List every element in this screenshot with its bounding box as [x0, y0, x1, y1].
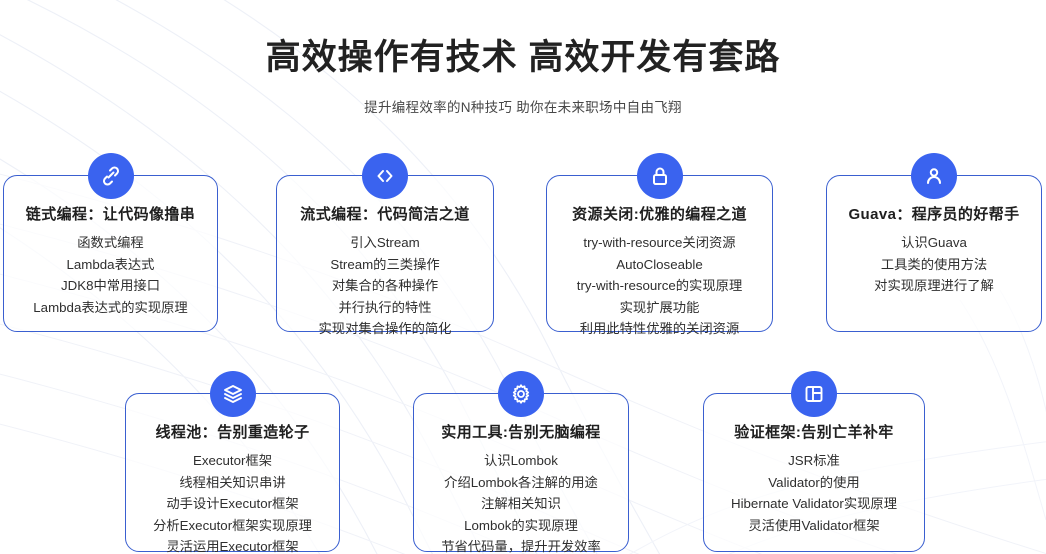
feature-card-stream-programming[interactable]: 流式编程：代码简洁之道 引入Stream Stream的三类操作 对集合的各种操… — [276, 175, 494, 332]
card-title: 资源关闭:优雅的编程之道 — [553, 203, 766, 224]
link-chain-icon — [88, 153, 134, 199]
list-item: Validator的使用 — [710, 472, 918, 494]
card-title: 流式编程：代码简洁之道 — [283, 203, 487, 224]
list-item: 灵活运用Executor框架 — [132, 536, 333, 554]
list-item: 对实现原理进行了解 — [833, 275, 1035, 297]
code-brackets-icon — [362, 153, 408, 199]
list-item: Executor框架 — [132, 450, 333, 472]
page-header: 高效操作有技术 高效开发有套路 提升编程效率的N种技巧 助你在未来职场中自由飞翔 — [0, 0, 1046, 116]
list-item: 函数式编程 — [10, 232, 211, 254]
list-item: Lambda表达式 — [10, 254, 211, 276]
card-title: 验证框架:告别亡羊补牢 — [710, 421, 918, 442]
list-item: 线程相关知识串讲 — [132, 472, 333, 494]
list-item: Lambda表达式的实现原理 — [10, 297, 211, 319]
list-item: Lombok的实现原理 — [420, 515, 622, 537]
card-title: 线程池：告别重造轮子 — [132, 421, 333, 442]
card-item-list: JSR标准 Validator的使用 Hibernate Validator实现… — [710, 450, 918, 536]
list-item: Hibernate Validator实现原理 — [710, 493, 918, 515]
list-item: 并行执行的特性 — [283, 297, 487, 319]
feature-card-resource-closing[interactable]: 资源关闭:优雅的编程之道 try-with-resource关闭资源 AutoC… — [546, 175, 773, 332]
list-item: 实现对集合操作的简化 — [283, 318, 487, 340]
user-person-icon — [911, 153, 957, 199]
list-item: 注解相关知识 — [420, 493, 622, 515]
page-subtitle: 提升编程效率的N种技巧 助你在未来职场中自由飞翔 — [0, 96, 1046, 116]
list-item: 实现扩展功能 — [553, 297, 766, 319]
card-item-list: 认识Lombok 介绍Lombok各注解的用途 注解相关知识 Lombok的实现… — [420, 450, 622, 554]
feature-card-chain-programming[interactable]: 链式编程：让代码像撸串 函数式编程 Lambda表达式 JDK8中常用接口 La… — [3, 175, 218, 332]
list-item: 引入Stream — [283, 232, 487, 254]
card-item-list: 函数式编程 Lambda表达式 JDK8中常用接口 Lambda表达式的实现原理 — [10, 232, 211, 318]
feature-card-validation-framework[interactable]: 验证框架:告别亡羊补牢 JSR标准 Validator的使用 Hibernate… — [703, 393, 925, 552]
list-item: JDK8中常用接口 — [10, 275, 211, 297]
card-title: Guava：程序员的好帮手 — [833, 203, 1035, 224]
card-title: 链式编程：让代码像撸串 — [10, 203, 211, 224]
card-item-list: 认识Guava 工具类的使用方法 对实现原理进行了解 — [833, 232, 1035, 297]
list-item: JSR标准 — [710, 450, 918, 472]
list-item: Stream的三类操作 — [283, 254, 487, 276]
list-item: 利用此特性优雅的关闭资源 — [553, 318, 766, 340]
list-item: 认识Lombok — [420, 450, 622, 472]
lock-icon — [637, 153, 683, 199]
layers-stack-icon — [210, 371, 256, 417]
page-title: 高效操作有技术 高效开发有套路 — [0, 36, 1046, 80]
list-item: 动手设计Executor框架 — [132, 493, 333, 515]
list-item: 介绍Lombok各注解的用途 — [420, 472, 622, 494]
feature-card-thread-pool[interactable]: 线程池：告别重造轮子 Executor框架 线程相关知识串讲 动手设计Execu… — [125, 393, 340, 552]
list-item: 认识Guava — [833, 232, 1035, 254]
list-item: 灵活使用Validator框架 — [710, 515, 918, 537]
list-item: try-with-resource的实现原理 — [553, 275, 766, 297]
feature-card-practical-tools[interactable]: 实用工具:告别无脑编程 认识Lombok 介绍Lombok各注解的用途 注解相关… — [413, 393, 629, 552]
list-item: try-with-resource关闭资源 — [553, 232, 766, 254]
layout-panel-icon — [791, 371, 837, 417]
list-item: AutoCloseable — [553, 254, 766, 276]
card-title: 实用工具:告别无脑编程 — [420, 421, 622, 442]
gear-icon — [498, 371, 544, 417]
list-item: 工具类的使用方法 — [833, 254, 1035, 276]
list-item: 对集合的各种操作 — [283, 275, 487, 297]
feature-card-guava[interactable]: Guava：程序员的好帮手 认识Guava 工具类的使用方法 对实现原理进行了解 — [826, 175, 1042, 332]
card-item-list: Executor框架 线程相关知识串讲 动手设计Executor框架 分析Exe… — [132, 450, 333, 554]
list-item: 节省代码量，提升开发效率 — [420, 536, 622, 554]
card-item-list: 引入Stream Stream的三类操作 对集合的各种操作 并行执行的特性 实现… — [283, 232, 487, 340]
list-item: 分析Executor框架实现原理 — [132, 515, 333, 537]
card-item-list: try-with-resource关闭资源 AutoCloseable try-… — [553, 232, 766, 340]
